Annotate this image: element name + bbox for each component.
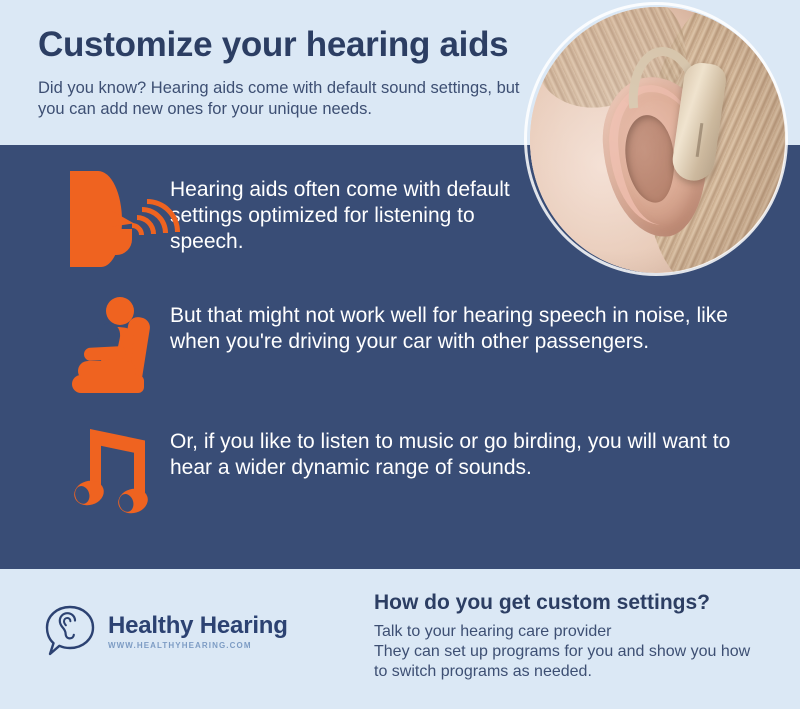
footer-info: How do you get custom settings? Talk to … — [374, 590, 764, 682]
footer-line: They can set up programs for you and sho… — [374, 642, 764, 682]
music-note-icon — [58, 419, 170, 523]
logo-name: Healthy Hearing — [108, 613, 288, 639]
speaking-head-soundwaves-icon — [58, 167, 170, 271]
seated-passenger-icon — [58, 293, 170, 397]
header-subtitle: Did you know? Hearing aids come with def… — [38, 78, 528, 120]
footer-heading: How do you get custom settings? — [374, 590, 764, 616]
infographic-root: Customize your hearing aids Did you know… — [0, 0, 800, 709]
logo-url: WWW.HEALTHYHEARING.COM — [108, 641, 288, 650]
footer-lines: Talk to your hearing care provider They … — [374, 622, 764, 682]
point-text: Or, if you like to listen to music or go… — [170, 419, 780, 481]
logo-text-block: Healthy Hearing WWW.HEALTHYHEARING.COM — [108, 613, 288, 650]
photo-ring — [524, 2, 788, 276]
hearing-aid-photo — [524, 2, 792, 280]
footer-line: Talk to your hearing care provider — [374, 622, 764, 642]
list-item: Or, if you like to listen to music or go… — [0, 419, 800, 523]
header: Customize your hearing aids Did you know… — [38, 24, 528, 120]
point-text: But that might not work well for hearing… — [170, 293, 780, 355]
ear-speech-bubble-icon — [42, 604, 98, 658]
brand-logo[interactable]: Healthy Hearing WWW.HEALTHYHEARING.COM — [42, 604, 288, 658]
list-item: But that might not work well for hearing… — [0, 293, 800, 397]
page-title: Customize your hearing aids — [38, 24, 528, 66]
point-text: Hearing aids often come with default set… — [170, 167, 555, 255]
